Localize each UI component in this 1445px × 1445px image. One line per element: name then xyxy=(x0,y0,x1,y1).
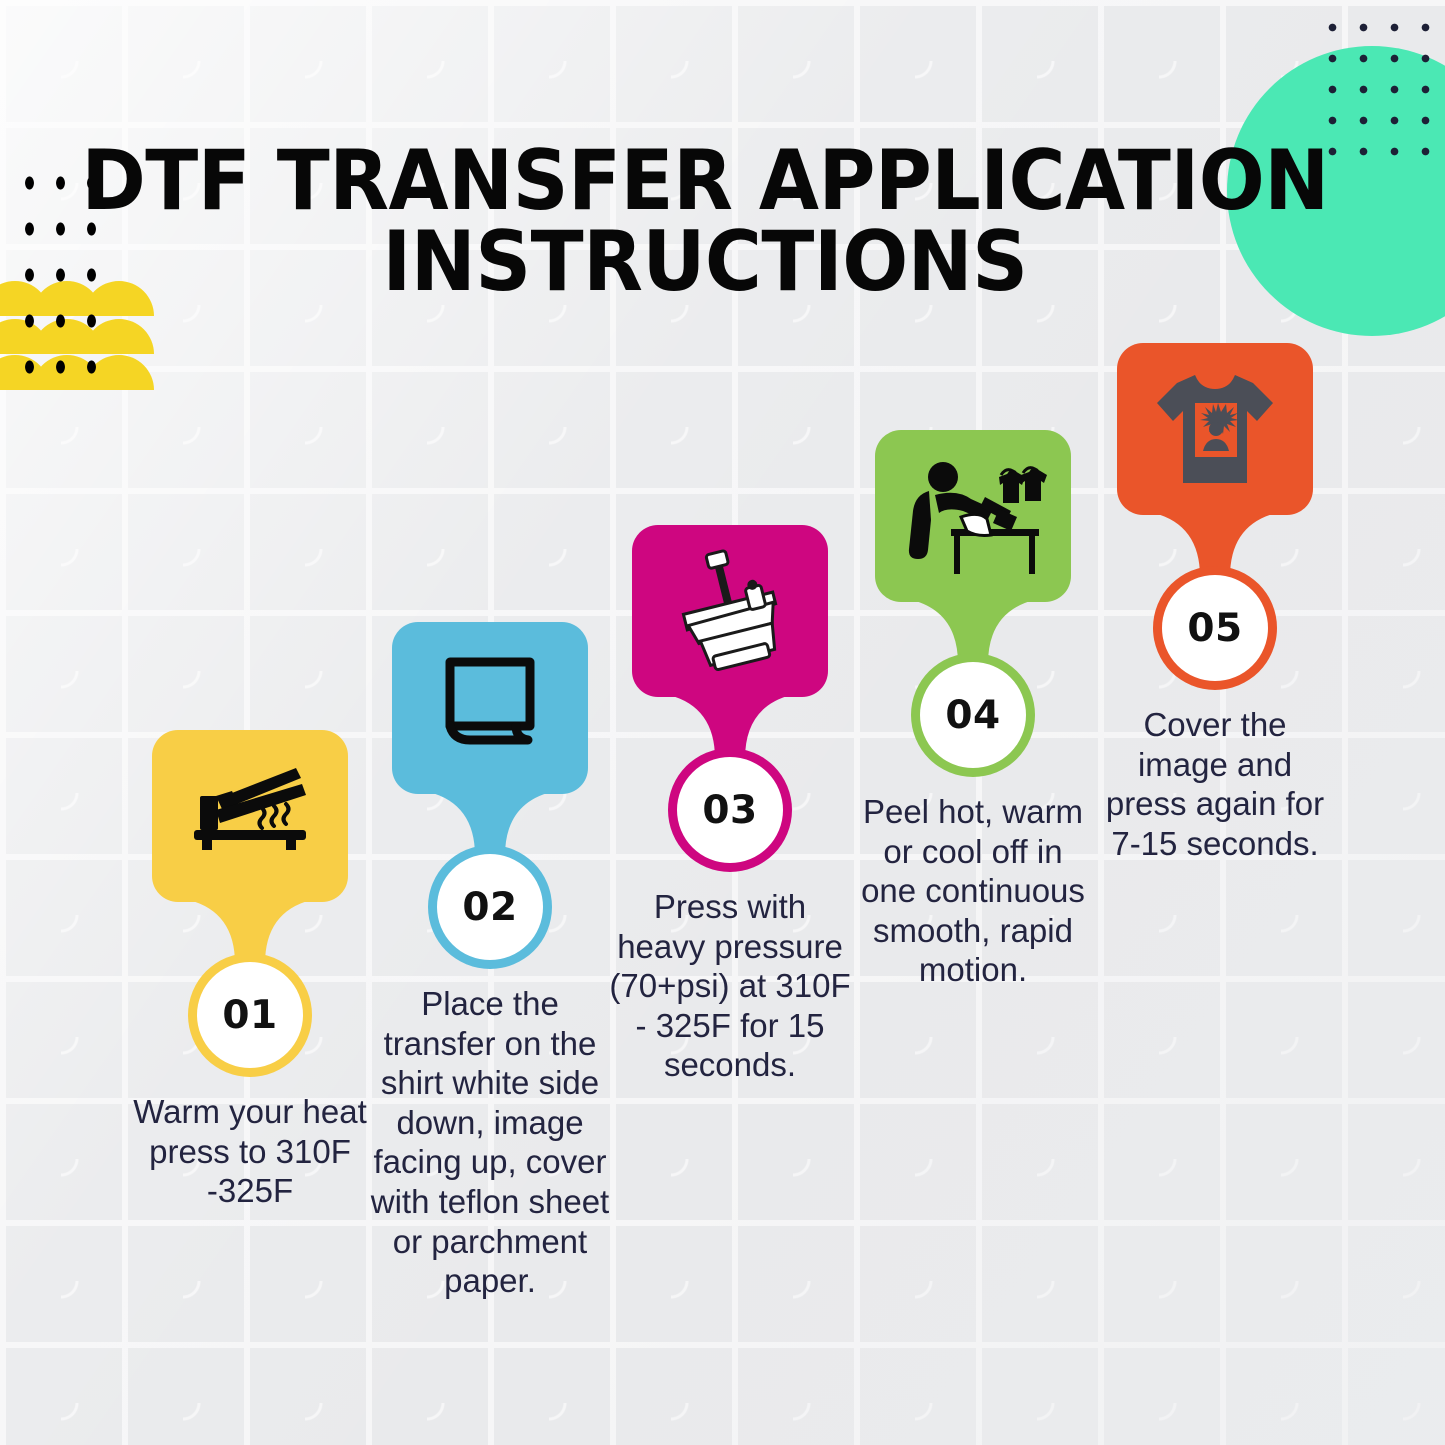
printed-tshirt-icon xyxy=(1151,367,1279,491)
step-01-number: 01 xyxy=(222,993,277,1038)
step-03: 03 Press with heavy pressure (70+psi) at… xyxy=(605,525,855,1085)
step-05-description: Cover the image and press again for 7-15… xyxy=(1090,705,1340,863)
step-05-number-badge: 05 xyxy=(1162,575,1268,681)
step-04-number-badge: 04 xyxy=(920,662,1026,768)
step-03-icon-card xyxy=(632,525,828,697)
step-05: 05 Cover the image and press again for 7… xyxy=(1090,343,1340,863)
step-03-connector xyxy=(715,695,745,759)
step-02-connector xyxy=(475,792,505,856)
worker-peeling-icon xyxy=(899,455,1047,577)
step-04: 04 Peel hot, warm or cool off in one con… xyxy=(848,430,1098,990)
step-02-number: 02 xyxy=(462,885,517,930)
step-02-description: Place the transfer on the shirt white si… xyxy=(365,984,615,1301)
step-01-connector xyxy=(235,900,265,964)
step-01: 01 Warm your heat press to 310F -325F xyxy=(125,730,375,1211)
step-04-connector xyxy=(958,600,988,664)
step-03-number: 03 xyxy=(702,788,757,833)
heat-press-machine-icon xyxy=(664,547,796,675)
step-01-icon-card xyxy=(152,730,348,902)
step-03-description: Press with heavy pressure (70+psi) at 31… xyxy=(605,887,855,1085)
heat-press-open-icon xyxy=(186,766,314,866)
step-05-icon-card xyxy=(1117,343,1313,515)
step-02-icon-card xyxy=(392,622,588,794)
step-05-connector xyxy=(1200,513,1230,577)
step-05-number: 05 xyxy=(1187,606,1242,651)
step-04-number: 04 xyxy=(945,693,1000,738)
step-02-number-badge: 02 xyxy=(437,854,543,960)
transfer-sheet-icon xyxy=(434,652,546,764)
step-03-number-badge: 03 xyxy=(677,757,783,863)
steps-container: 01 Warm your heat press to 310F -325F 02 xyxy=(0,0,1445,1445)
step-04-icon-card xyxy=(875,430,1071,602)
infographic-canvas: DTF TRANSFER APPLICATION INSTRUCTIONS xyxy=(0,0,1445,1445)
step-01-number-badge: 01 xyxy=(197,962,303,1068)
step-02: 02 Place the transfer on the shirt white… xyxy=(365,622,615,1301)
step-01-description: Warm your heat press to 310F -325F xyxy=(125,1092,375,1211)
step-04-description: Peel hot, warm or cool off in one contin… xyxy=(848,792,1098,990)
